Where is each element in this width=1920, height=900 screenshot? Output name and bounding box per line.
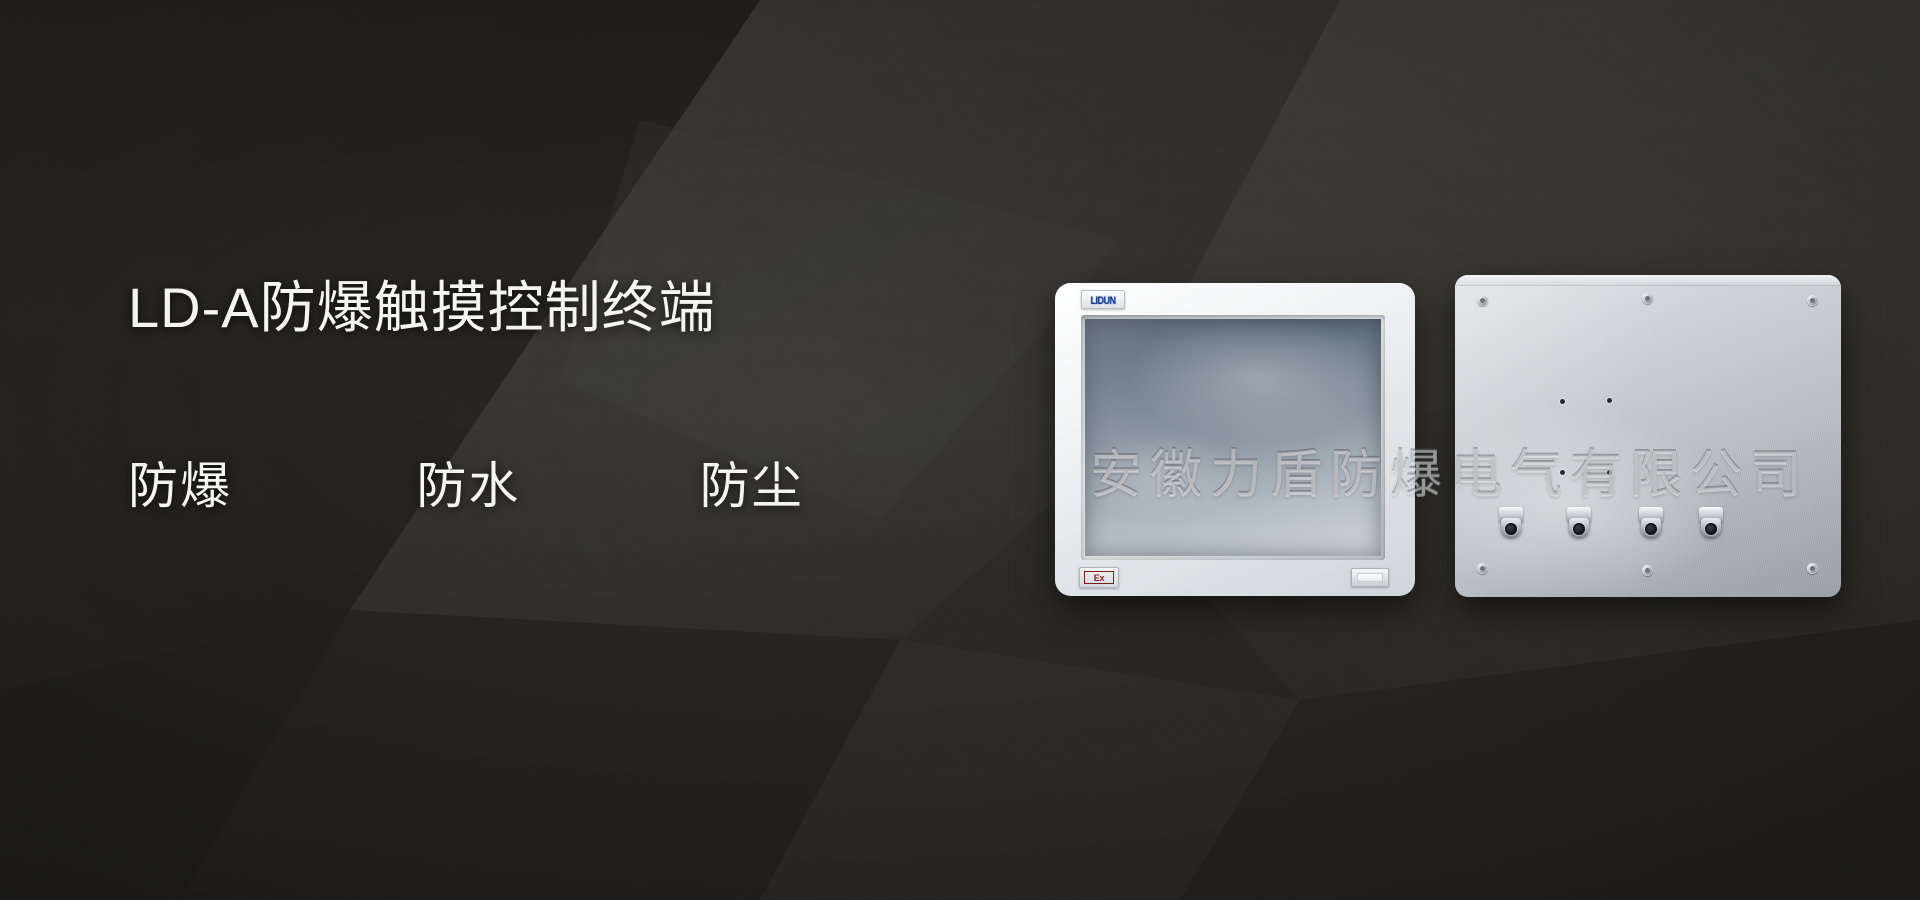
mounting-hole-icon <box>1560 399 1565 404</box>
brand-logo-badge: LIDUN <box>1081 290 1125 309</box>
cable-gland-icon <box>1699 507 1723 537</box>
product-front-panel: LIDUN Ex <box>1055 283 1415 596</box>
screw-icon <box>1642 293 1653 304</box>
feature-item-waterproof: 防水 <box>416 446 699 518</box>
feature-list: 防爆 防水 防尘 <box>128 446 988 518</box>
brand-logo-text: LIDUN <box>1091 293 1116 306</box>
touch-screen-display <box>1085 319 1381 556</box>
screw-icon <box>1807 563 1818 574</box>
screw-icon <box>1642 565 1653 576</box>
ex-badge-text: Ex <box>1084 571 1114 584</box>
screen-bezel-well <box>1081 315 1385 560</box>
screw-icon <box>1477 563 1488 574</box>
screw-icon <box>1477 295 1488 306</box>
ex-certification-badge: Ex <box>1079 567 1119 588</box>
metal-nameplate-badge <box>1351 568 1389 587</box>
mounting-hole-icon <box>1607 470 1612 475</box>
cable-gland-icon <box>1639 507 1663 537</box>
mounting-hole-icon <box>1560 470 1565 475</box>
back-panel-lip <box>1455 275 1841 286</box>
brushed-metal-texture <box>1455 275 1841 597</box>
product-back-panel <box>1455 275 1841 597</box>
feature-item-dustproof: 防尘 <box>700 446 988 518</box>
cable-gland-icon <box>1567 507 1591 537</box>
banner-stage: LD-A防爆触摸控制终端 防爆 防水 防尘 LIDUN Ex <box>0 0 1920 900</box>
screw-icon <box>1807 295 1818 306</box>
feature-item-explosion-proof: 防爆 <box>128 446 416 518</box>
copy-block: LD-A防爆触摸控制终端 防爆 防水 防尘 <box>128 278 988 518</box>
product-images: LIDUN Ex <box>1055 275 1845 605</box>
cable-gland-icon <box>1499 507 1523 537</box>
metal-sheen-highlight <box>1455 275 1841 597</box>
mounting-hole-icon <box>1607 398 1612 403</box>
page-title: LD-A防爆触摸控制终端 <box>128 278 988 338</box>
